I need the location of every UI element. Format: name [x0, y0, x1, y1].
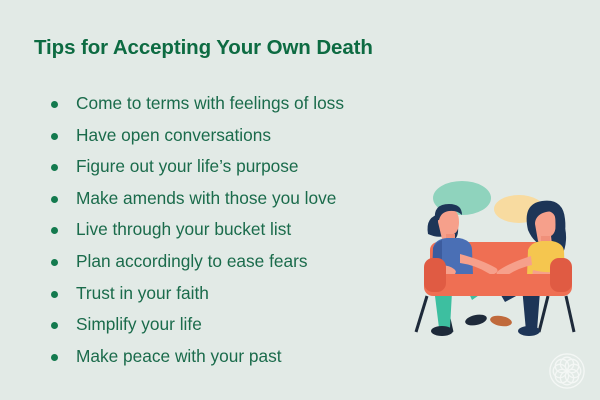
bullet-icon: [51, 354, 58, 361]
list-item: Simplify your life: [40, 309, 440, 341]
list-item: Make amends with those you love: [40, 183, 440, 215]
floral-circle-watermark-logo: [548, 352, 586, 390]
list-item-label: Come to terms with feelings of loss: [76, 93, 344, 113]
bullet-icon: [51, 291, 58, 298]
list-item-label: Plan accordingly to ease fears: [76, 251, 308, 271]
list-item: Trust in your faith: [40, 278, 440, 310]
illustration-two-people-conversing: [400, 178, 596, 358]
list-item-label: Figure out your life’s purpose: [76, 156, 299, 176]
bullet-icon: [51, 133, 58, 140]
list-item: Live through your bucket list: [40, 214, 440, 246]
bullet-icon: [51, 322, 58, 329]
list-item-label: Make peace with your past: [76, 346, 282, 366]
bullet-icon: [51, 101, 58, 108]
list-item: Plan accordingly to ease fears: [40, 246, 440, 278]
list-item: Make peace with your past: [40, 341, 440, 373]
bullet-icon: [51, 164, 58, 171]
list-item-label: Live through your bucket list: [76, 219, 291, 239]
bullet-icon: [51, 196, 58, 203]
list-item-label: Trust in your faith: [76, 283, 209, 303]
list-item: Figure out your life’s purpose: [40, 151, 440, 183]
list-item: Have open conversations: [40, 120, 440, 152]
page-title: Tips for Accepting Your Own Death: [34, 36, 373, 60]
bullet-icon: [51, 227, 58, 234]
list-item-label: Make amends with those you love: [76, 188, 336, 208]
tips-list: Come to terms with feelings of loss Have…: [40, 88, 440, 372]
bullet-icon: [51, 259, 58, 266]
list-item: Come to terms with feelings of loss: [40, 88, 440, 120]
list-item-label: Simplify your life: [76, 314, 202, 334]
list-item-label: Have open conversations: [76, 125, 271, 145]
infographic-card: Tips for Accepting Your Own Death Come t…: [0, 0, 600, 400]
